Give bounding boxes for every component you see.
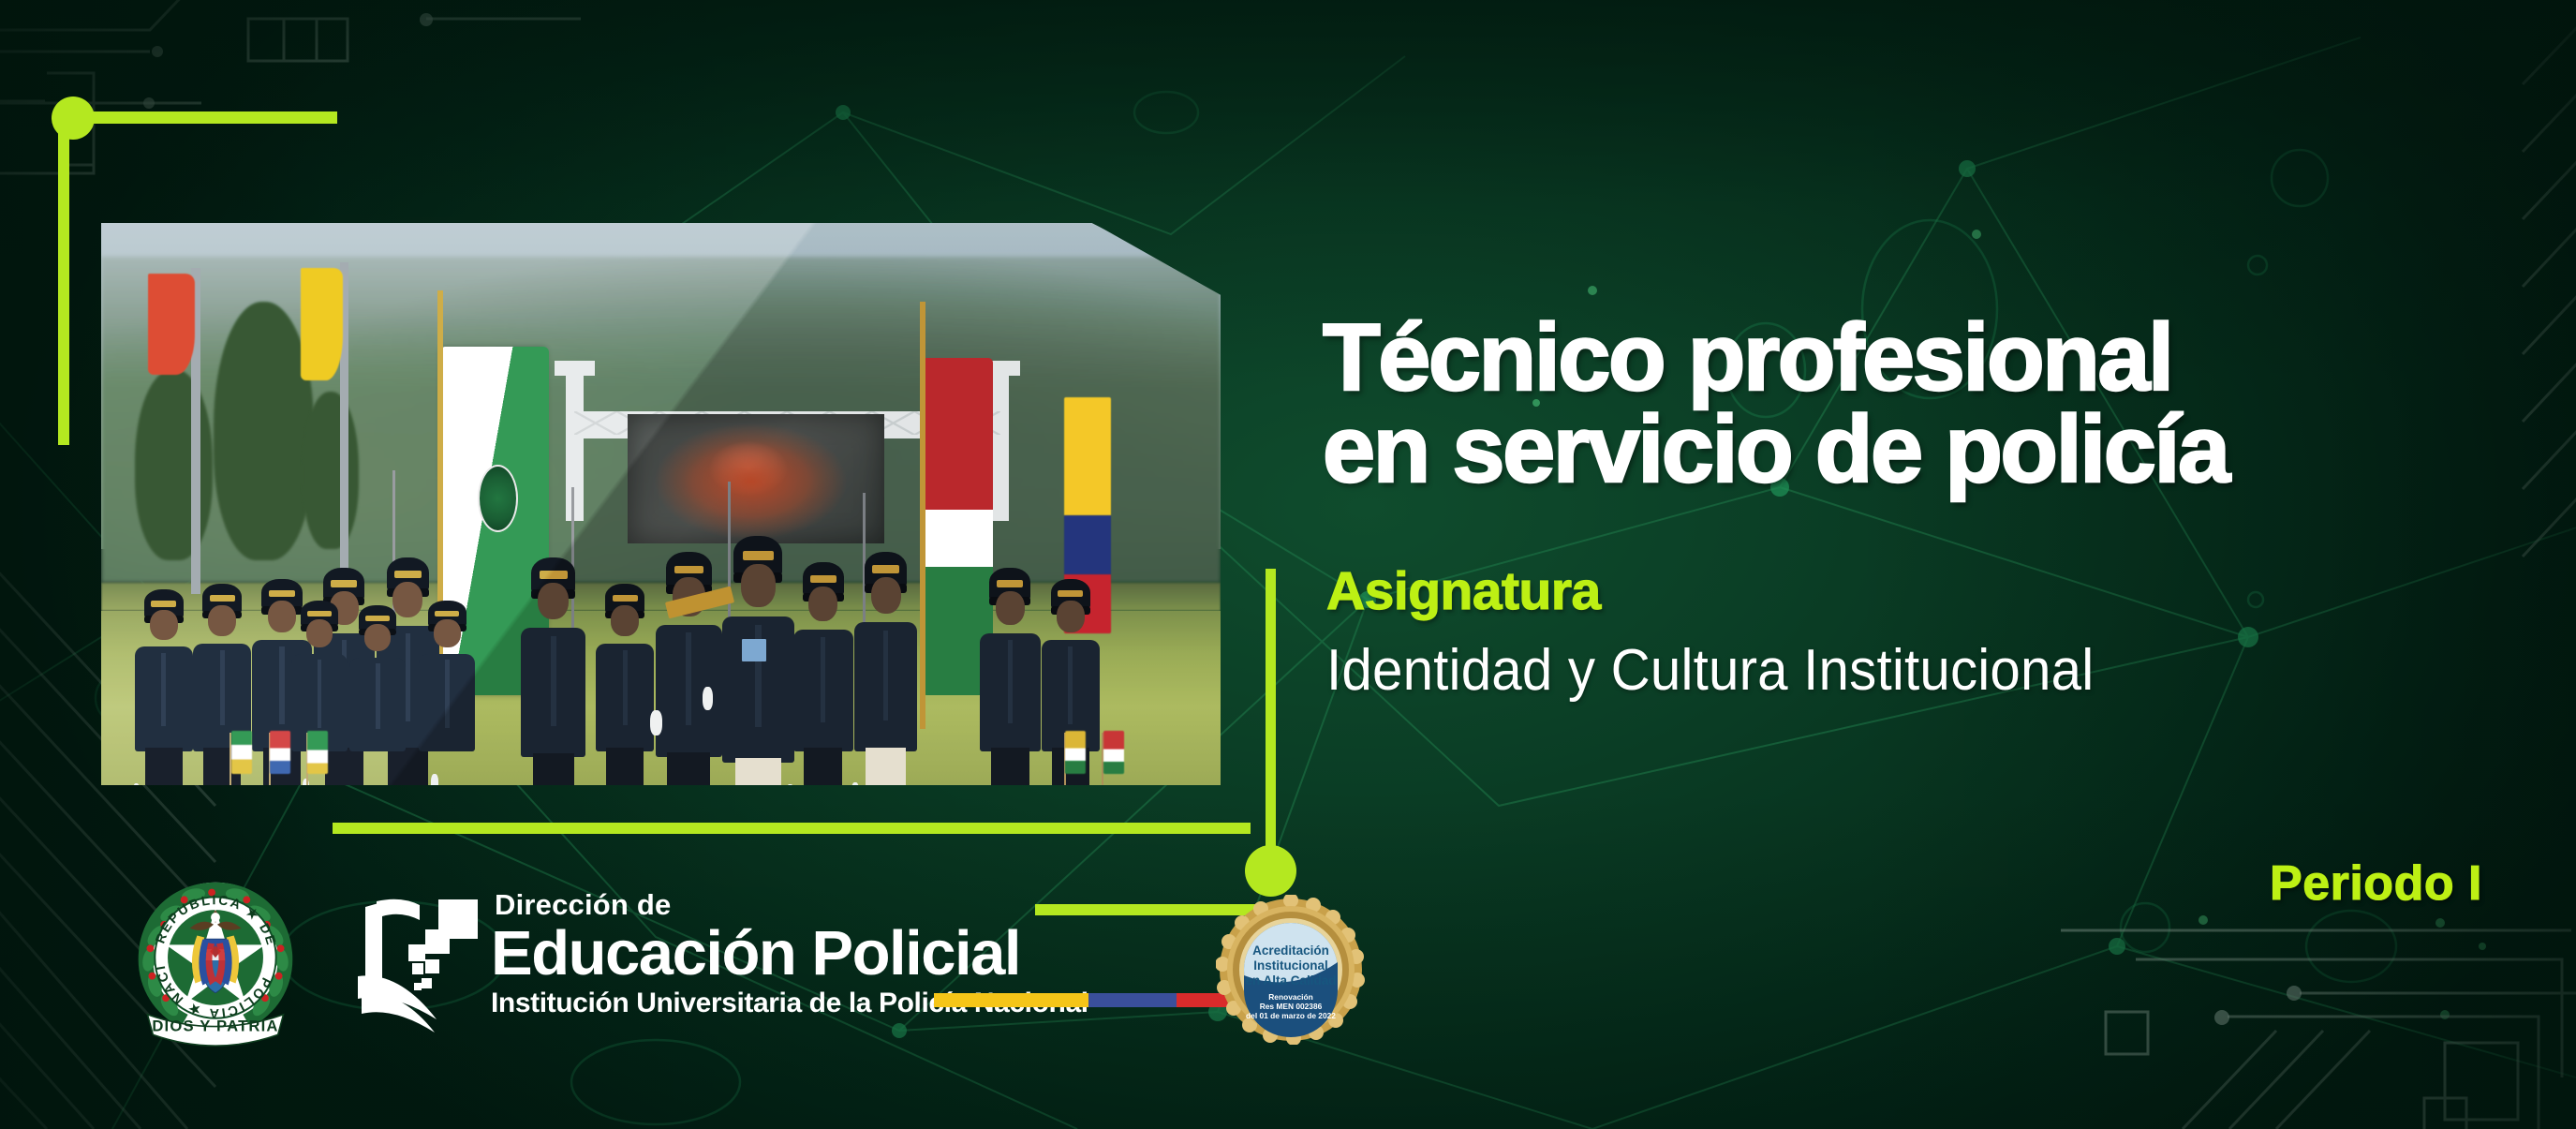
ceremony-photo (101, 223, 1221, 785)
seal-line-2: Institucional (1253, 958, 1328, 973)
education-direction-logo: Dirección de Educación Policial Instituc… (348, 888, 1238, 1038)
colombia-flag-bar (934, 993, 1262, 1007)
accreditation-seal-icon: Acreditación Institucional en Alta Calid… (1216, 895, 1366, 1045)
accent-line-top-horizontal (69, 111, 337, 124)
accent-line-right-vertical (1266, 569, 1276, 878)
seal-line-6: del 01 de marzo de 2022 (1246, 1011, 1336, 1020)
open-book-icon (348, 888, 480, 1038)
subject-label: Asignatura (1326, 560, 1601, 622)
flag-stripe-blue (1088, 993, 1177, 1007)
period-badge: Periodo I (2270, 855, 2482, 912)
course-banner: Técnico profesional en servicio de polic… (0, 0, 2576, 1129)
logo-line-1: Dirección de (495, 890, 1240, 919)
flag-stripe-yellow (934, 993, 1088, 1007)
seal-line-5: Res MEN 002386 (1260, 1002, 1323, 1011)
accent-line-bottom-horizontal (333, 823, 1251, 834)
logo-line-2: Educación Policial (491, 922, 1240, 986)
seal-line-1: Acreditación (1252, 943, 1329, 958)
page-title: Técnico profesional en servicio de polic… (1323, 313, 2540, 497)
seal-line-4: Renovación (1268, 992, 1312, 1002)
subject-name: Identidad y Cultura Institucional (1326, 637, 2094, 704)
title-line-2: en servicio de policía (1323, 405, 2540, 497)
svg-text:DIOS Y PATRIA: DIOS Y PATRIA (152, 1017, 278, 1034)
accent-line-left-vertical (58, 117, 69, 445)
colombia-police-crest-icon: REPUBLICA ★ DE ★ COLOMBIA POLICIA ★ NACI… (124, 869, 307, 1053)
title-line-1: Técnico profesional (1323, 313, 2540, 405)
accent-dot-bottom (1245, 845, 1296, 897)
seal-line-3: en Alta Calidad (1245, 973, 1336, 988)
